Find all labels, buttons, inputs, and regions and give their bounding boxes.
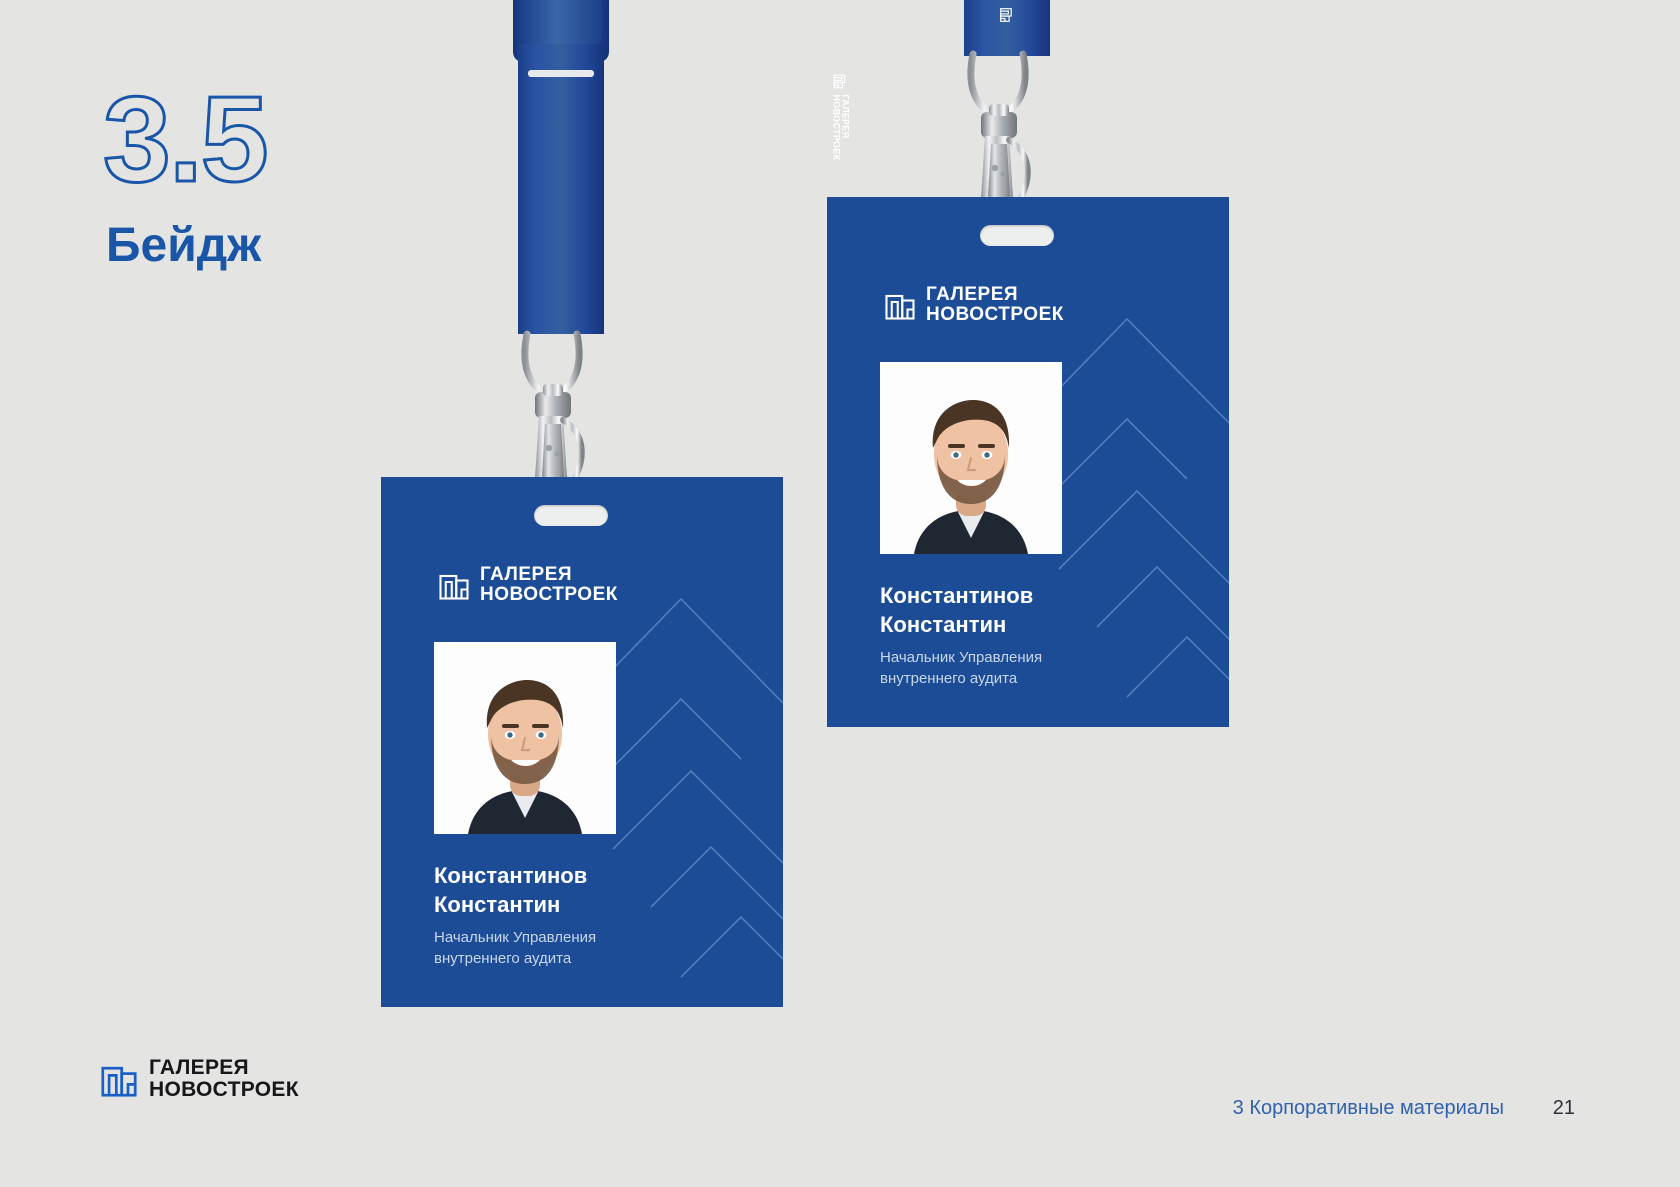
- portrait-photo: [880, 362, 1062, 554]
- lanyard-buckle: [520, 0, 602, 46]
- badge-wordmark-line1: ГАЛЕРЕЯ: [480, 565, 618, 585]
- badge-photo: [880, 362, 1062, 554]
- badge-logo: ГАЛЕРЕЯ НОВОСТРОЕК: [439, 565, 618, 605]
- badge-slot: [980, 225, 1054, 246]
- lanyard-wordmark: ГАЛЕРЕЯ НОВОСТРОЕК: [831, 94, 850, 160]
- lanyard-seam: [528, 70, 594, 77]
- badge-wordmark: ГАЛЕРЕЯ НОВОСТРОЕК: [480, 565, 618, 605]
- badge-wordmark: ГАЛЕРЕЯ НОВОСТРОЕК: [926, 285, 1064, 325]
- badge-slot: [534, 505, 608, 526]
- portrait-photo: [434, 642, 616, 834]
- brandbook-page: 3.5 Бейдж ГАЛЕРЕЯ НОВОСТРОЕК: [0, 0, 1680, 1187]
- footer-logo: ГАЛЕРЕЯ НОВОСТРОЕК: [101, 1057, 299, 1102]
- gallery-novostroek-logo-icon: [101, 1061, 137, 1097]
- badge-person-role: Начальник Управления внутреннего аудита: [880, 647, 1042, 690]
- badge-person-role: Начальник Управления внутреннего аудита: [434, 927, 596, 970]
- lanyard-lockup: ГАЛЕРЕЯ НОВОСТРОЕК: [831, 74, 850, 160]
- badge-wordmark-line2: НОВОСТРОЕК: [480, 585, 618, 605]
- section-number: 3.5: [103, 78, 267, 200]
- gallery-novostroek-logo-icon: [885, 290, 915, 320]
- badge-logo: ГАЛЕРЕЯ НОВОСТРОЕК: [885, 285, 1064, 325]
- badge-photo: [434, 642, 616, 834]
- badge-wordmark-line1: ГАЛЕРЕЯ: [926, 285, 1064, 305]
- badge-wordmark-line2: НОВОСТРОЕК: [926, 305, 1064, 325]
- footer-section-label: 3 Корпоративные материалы: [1233, 1097, 1504, 1120]
- lanyard-strap: [518, 44, 604, 334]
- badge-person-name: Константинов Константин: [434, 862, 587, 919]
- badge-person-name: Константинов Константин: [880, 582, 1033, 639]
- footer-wordmark: ГАЛЕРЕЯ НОВОСТРОЕК: [149, 1057, 299, 1102]
- footer-wordmark-line1: ГАЛЕРЕЯ: [149, 1057, 299, 1079]
- gallery-novostroek-logo-icon: [1000, 8, 1014, 22]
- gallery-novostroek-logo-icon: [833, 74, 847, 88]
- badge-card-front[interactable]: ГАЛЕРЕЯ НОВОСТРОЕК: [381, 477, 783, 1007]
- footer-wordmark-line2: НОВОСТРОЕК: [149, 1079, 299, 1101]
- lanyard-lockup: [1000, 8, 1014, 22]
- page-title: Бейдж: [106, 222, 261, 270]
- badge-card-back[interactable]: ГАЛЕРЕЯ НОВОСТРОЕК: [827, 197, 1229, 727]
- footer-page-number: 21: [1553, 1097, 1575, 1120]
- gallery-novostroek-logo-icon: [439, 570, 469, 600]
